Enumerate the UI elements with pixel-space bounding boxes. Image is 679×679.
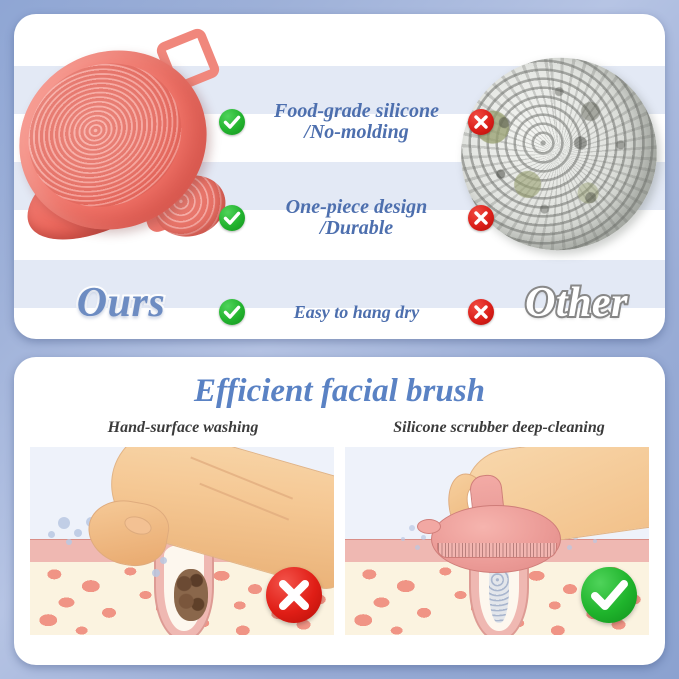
result-check-icon — [581, 567, 637, 623]
bubble — [58, 517, 70, 529]
panel-caption: Hand-surface washing — [28, 419, 338, 437]
bubble — [401, 537, 405, 541]
feature-row: One-piece design /Durable — [219, 190, 494, 246]
feature-label: One-piece design /Durable — [245, 197, 468, 239]
result-cross-icon — [266, 567, 322, 623]
knuckle-line — [200, 483, 290, 520]
bubble — [421, 535, 426, 540]
check-icon — [219, 299, 245, 325]
cross-icon — [468, 299, 494, 325]
panel-caption: Silicone scrubber deep-cleaning — [344, 419, 654, 437]
bubble — [567, 545, 572, 550]
brush-hang-tab — [417, 519, 441, 534]
check-icon — [219, 109, 245, 135]
bubble — [593, 539, 597, 543]
bubble — [160, 557, 167, 564]
bubble — [48, 531, 55, 538]
cross-icon — [468, 205, 494, 231]
comparison-card: Food-grade silicone /No-molding One-piec… — [14, 14, 665, 339]
infographic-stage: Food-grade silicone /No-molding One-piec… — [0, 0, 679, 679]
other-label: Other — [494, 279, 659, 327]
cross-icon — [468, 109, 494, 135]
bubble — [152, 569, 160, 577]
feature-label: Food-grade silicone /No-molding — [245, 101, 468, 143]
section-title: Efficient facial brush — [14, 373, 665, 410]
check-icon — [219, 205, 245, 231]
facial-brush-card: Efficient facial brush Hand-surface wash… — [14, 357, 665, 665]
pore-cavity — [164, 545, 204, 631]
pore-debris — [174, 569, 208, 621]
bubble — [415, 545, 420, 550]
bubble — [409, 525, 415, 531]
brush-bristle-row — [437, 543, 557, 558]
silicone-brush-head — [431, 505, 561, 573]
bubble — [74, 529, 82, 537]
ours-label: Ours — [36, 279, 206, 327]
silicone-brush-illustration — [345, 447, 649, 635]
ours-product-image — [14, 26, 227, 251]
feature-row: Easy to hang dry — [219, 294, 494, 330]
feature-row: Food-grade silicone /No-molding — [219, 94, 494, 150]
silicone-brush-icon — [14, 26, 227, 251]
bubble — [66, 539, 72, 545]
hand-washing-illustration — [30, 447, 334, 635]
knuckle-line — [191, 457, 294, 500]
feature-label: Easy to hang dry — [245, 303, 468, 322]
